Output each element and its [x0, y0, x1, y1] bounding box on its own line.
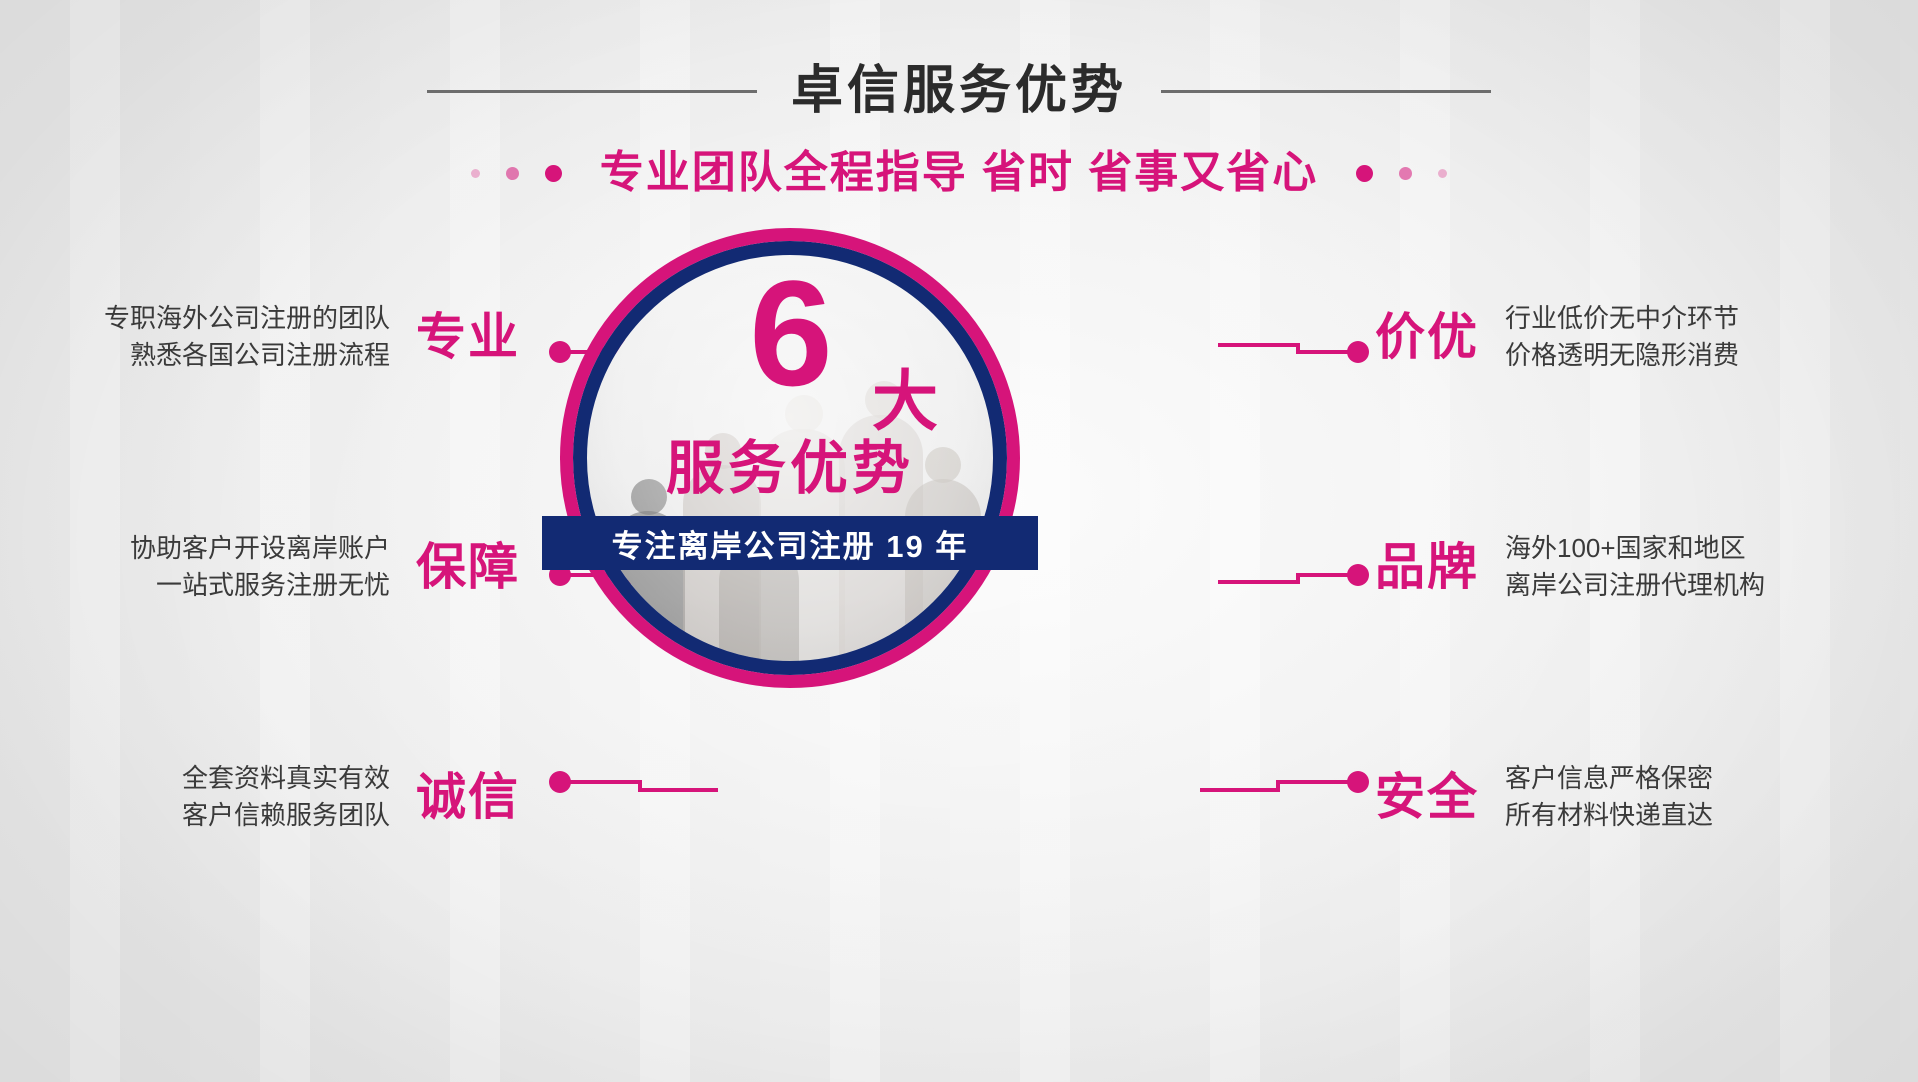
- hub-number-suffix: 大: [872, 368, 938, 434]
- feature-description: 专职海外公司注册的团队 熟悉各国公司注册流程: [104, 300, 390, 374]
- feature-desc-line: 全套资料真实有效: [182, 760, 390, 797]
- hub-banner-text: 专注离岸公司注册 19 年: [612, 521, 969, 566]
- feature-description: 全套资料真实有效 客户信赖服务团队: [182, 760, 390, 834]
- dot-flourish-right: [1356, 165, 1447, 182]
- feature-keyword: 价优: [1375, 312, 1479, 362]
- node-dot-icon: [1347, 564, 1369, 586]
- dot-icon: [1399, 167, 1412, 180]
- feature-desc-line: 客户信息严格保密: [1505, 760, 1713, 797]
- feature-description: 客户信息严格保密 所有材料快递直达: [1505, 760, 1713, 834]
- header-rule-left: [427, 90, 757, 93]
- feature-description: 协助客户开设离岸账户 一站式服务注册无忧: [130, 530, 390, 604]
- feature-keyword: 品牌: [1375, 542, 1479, 592]
- feature-desc-line: 价格透明无隐形消费: [1505, 337, 1739, 374]
- feature-item-zhuanye[interactable]: 专职海外公司注册的团队 熟悉各国公司注册流程 专业: [60, 300, 520, 374]
- page-header: 卓信服务优势: [0, 48, 1918, 134]
- hub-banner: 专注离岸公司注册 19 年: [542, 516, 1038, 570]
- feature-desc-line: 一站式服务注册无忧: [130, 567, 390, 604]
- subtitle-text: 专业团队全程指导 省时 省事又省心: [600, 151, 1318, 195]
- node-dot-icon: [1347, 341, 1369, 363]
- subtitle-row: 专业团队全程指导 省时 省事又省心: [0, 140, 1918, 206]
- dot-icon: [471, 169, 480, 178]
- feature-desc-line: 离岸公司注册代理机构: [1505, 567, 1765, 604]
- feature-item-chengxin[interactable]: 全套资料真实有效 客户信赖服务团队 诚信: [60, 760, 520, 834]
- feature-keyword: 专业: [416, 312, 520, 362]
- dot-flourish-left: [471, 165, 562, 182]
- feature-item-baozhang[interactable]: 协助客户开设离岸账户 一站式服务注册无忧 保障: [60, 530, 520, 604]
- feature-description: 海外100+国家和地区 离岸公司注册代理机构: [1505, 530, 1765, 604]
- feature-item-anquan[interactable]: 安全 客户信息严格保密 所有材料快递直达: [1375, 760, 1845, 834]
- dot-icon: [545, 165, 562, 182]
- feature-keyword: 诚信: [416, 772, 520, 822]
- page-title: 卓信服务优势: [791, 65, 1127, 117]
- feature-desc-line: 协助客户开设离岸账户: [130, 530, 390, 567]
- dot-icon: [1356, 165, 1373, 182]
- header-rule-right: [1161, 90, 1491, 93]
- feature-desc-line: 熟悉各国公司注册流程: [104, 337, 390, 374]
- feature-item-pinpai[interactable]: 品牌 海外100+国家和地区 离岸公司注册代理机构: [1375, 530, 1845, 604]
- feature-item-jiayou[interactable]: 价优 行业低价无中介环节 价格透明无隐形消费: [1375, 300, 1845, 374]
- feature-keyword: 保障: [416, 542, 520, 592]
- feature-desc-line: 行业低价无中介环节: [1505, 300, 1739, 337]
- feature-desc-line: 所有材料快递直达: [1505, 797, 1713, 834]
- hub-advantage-text: 服务优势: [560, 440, 1020, 498]
- dot-icon: [506, 167, 519, 180]
- dot-icon: [1438, 169, 1447, 178]
- feature-description: 行业低价无中介环节 价格透明无隐形消费: [1505, 300, 1739, 374]
- node-dot-icon: [549, 771, 571, 793]
- node-dot-icon: [1347, 771, 1369, 793]
- feature-desc-line: 海外100+国家和地区: [1505, 530, 1765, 567]
- feature-desc-line: 客户信赖服务团队: [182, 797, 390, 834]
- feature-keyword: 安全: [1375, 772, 1479, 822]
- hub-number: 6: [560, 266, 1020, 401]
- center-hub: 6 大 服务优势 专注离岸公司注册 19 年: [560, 228, 1020, 688]
- feature-desc-line: 专职海外公司注册的团队: [104, 300, 390, 337]
